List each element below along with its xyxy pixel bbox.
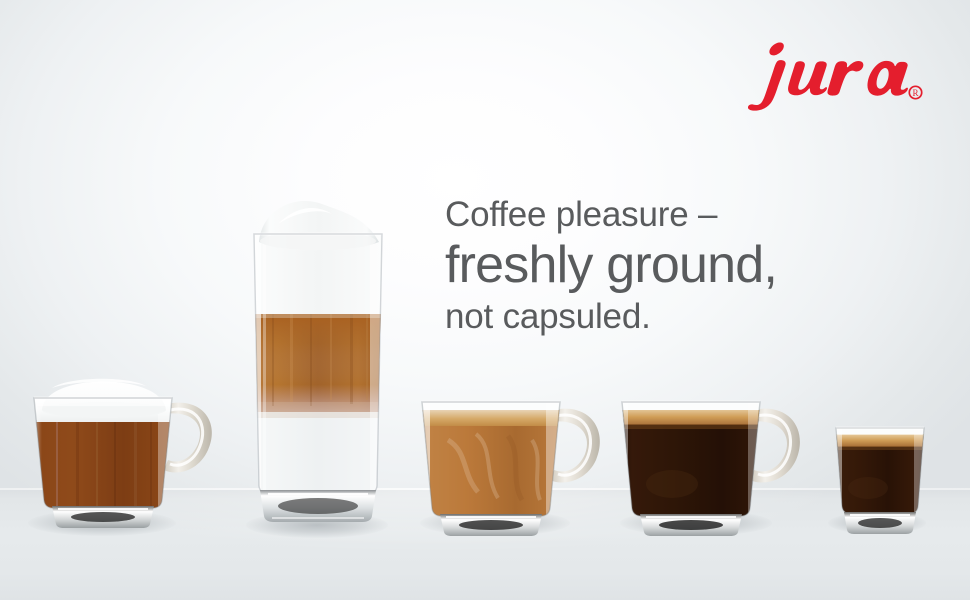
headline-line-1: Coffee pleasure – [445, 192, 875, 238]
drink-espresso[interactable] [822, 418, 940, 536]
jura-advertisement-banner: R Coffee pleasure – freshly ground, not … [0, 0, 970, 600]
drink-cappuccino[interactable] [18, 368, 228, 534]
headline-block: Coffee pleasure – freshly ground, not ca… [445, 192, 875, 339]
jura-logo[interactable]: R [748, 40, 924, 114]
svg-text:R: R [912, 88, 918, 98]
headline-line-3: not capsuled. [445, 295, 875, 339]
drink-flat-white[interactable] [412, 388, 612, 536]
drink-coffee[interactable] [612, 388, 812, 536]
headline-line-2: freshly ground, [445, 236, 875, 294]
registered-mark: R [909, 86, 921, 98]
drink-latte-macchiato[interactable] [238, 196, 398, 532]
